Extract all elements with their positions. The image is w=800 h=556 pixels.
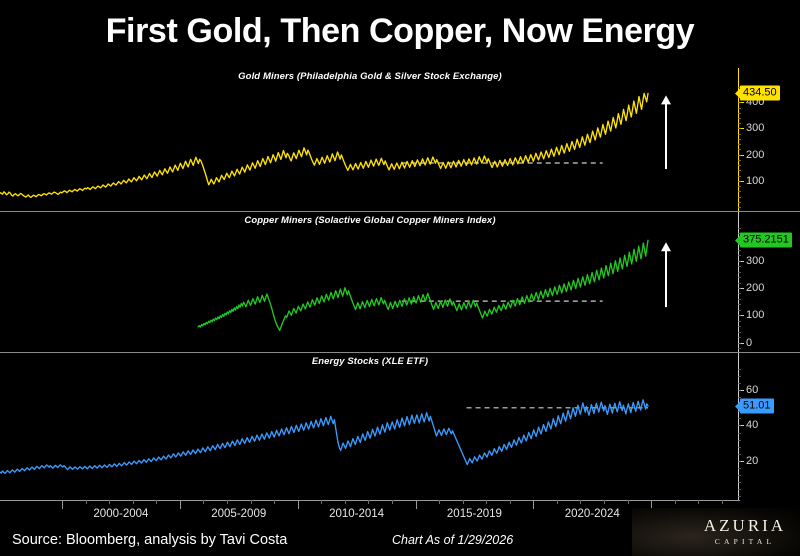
x-axis-minor-tick bbox=[274, 500, 275, 504]
x-axis-minor-tick bbox=[345, 500, 346, 504]
axis-minor-tick bbox=[738, 176, 741, 177]
axis-minor-tick bbox=[738, 197, 741, 198]
axis-tick-label: 100 bbox=[746, 309, 764, 321]
plot-energy-stocks bbox=[0, 353, 740, 500]
price-axis-gold-miners: 100200300400 434.50 bbox=[738, 68, 800, 211]
last-price-tag: 51.01 bbox=[740, 399, 774, 414]
azuria-capital-logo: AZURIA CAPITAL bbox=[632, 508, 800, 556]
plot-gold-miners bbox=[0, 68, 740, 211]
axis-minor-tick bbox=[738, 461, 741, 462]
x-axis-minor-tick bbox=[557, 500, 558, 504]
series-line bbox=[0, 212, 740, 352]
x-axis-line bbox=[0, 500, 740, 501]
axis-minor-tick bbox=[738, 255, 741, 256]
page-title: First Gold, Then Copper, Now Energy bbox=[0, 12, 800, 51]
axis-minor-tick bbox=[738, 102, 741, 103]
axis-minor-tick bbox=[738, 283, 741, 284]
axis-minor-tick bbox=[738, 418, 741, 419]
axis-minor-tick bbox=[738, 228, 741, 229]
axis-minor-tick bbox=[738, 310, 741, 311]
pyramid-icon bbox=[640, 514, 692, 552]
price-tag-caret bbox=[735, 88, 740, 98]
axis-minor-tick bbox=[738, 149, 741, 150]
axis-spine bbox=[738, 353, 739, 500]
axis-minor-tick bbox=[738, 369, 741, 370]
axis-minor-tick bbox=[738, 207, 741, 208]
axis-minor-tick bbox=[738, 468, 741, 469]
axis-minor-tick bbox=[738, 304, 741, 305]
axis-minor-tick bbox=[738, 134, 741, 135]
chart-panels: Gold Miners (Philadelphia Gold & Silver … bbox=[0, 68, 800, 500]
panel-title-energy-stocks: Energy Stocks (XLE ETF) bbox=[0, 356, 740, 367]
axis-minor-tick bbox=[738, 433, 741, 434]
last-price-tag: 434.50 bbox=[740, 86, 780, 101]
x-axis-minor-tick bbox=[463, 500, 464, 504]
axis-minor-tick bbox=[738, 181, 741, 182]
x-axis-tick bbox=[180, 500, 181, 509]
panel-gold-miners: Gold Miners (Philadelphia Gold & Silver … bbox=[0, 68, 800, 211]
axis-tick-label: 0 bbox=[746, 337, 752, 349]
price-axis-copper-miners: 0100200300 375.2151 bbox=[738, 212, 800, 352]
axis-minor-tick bbox=[738, 123, 741, 124]
axis-minor-tick bbox=[738, 321, 741, 322]
axis-tick-label: 300 bbox=[746, 255, 764, 267]
axis-tick-label: 100 bbox=[746, 175, 764, 187]
axis-tick-label: 20 bbox=[746, 455, 758, 467]
axis-minor-tick bbox=[738, 144, 741, 145]
last-price-tag: 375.2151 bbox=[740, 233, 792, 248]
axis-minor-tick bbox=[738, 343, 741, 344]
panel-copper-miners: Copper Miners (Solactive Global Copper M… bbox=[0, 212, 800, 352]
axis-minor-tick bbox=[738, 118, 741, 119]
axis-minor-tick bbox=[738, 113, 741, 114]
panel-title-gold-miners: Gold Miners (Philadelphia Gold & Silver … bbox=[0, 71, 740, 82]
axis-minor-tick bbox=[738, 288, 741, 289]
axis-minor-tick bbox=[738, 315, 741, 316]
logo-name: AZURIA bbox=[694, 516, 796, 535]
axis-minor-tick bbox=[738, 277, 741, 278]
x-axis-minor-tick bbox=[321, 500, 322, 504]
x-axis-minor-tick bbox=[203, 500, 204, 504]
axis-minor-tick bbox=[738, 383, 741, 384]
axis-minor-tick bbox=[738, 489, 741, 490]
axis-minor-tick bbox=[738, 454, 741, 455]
axis-minor-tick bbox=[738, 425, 741, 426]
x-axis-minor-tick bbox=[675, 500, 676, 504]
axis-tick-label: 200 bbox=[746, 149, 764, 161]
axis-minor-tick bbox=[738, 496, 741, 497]
axis-minor-tick bbox=[738, 348, 741, 349]
logo-wordmark: AZURIA CAPITAL bbox=[694, 516, 796, 546]
axis-minor-tick bbox=[738, 202, 741, 203]
axis-minor-tick bbox=[738, 170, 741, 171]
axis-minor-tick bbox=[738, 186, 741, 187]
series-line bbox=[0, 68, 740, 211]
source-text: Source: Bloomberg, analysis by Tavi Cost… bbox=[12, 532, 287, 548]
x-axis-label: 2000-2004 bbox=[93, 508, 148, 520]
series-line bbox=[0, 353, 740, 500]
x-axis-tick bbox=[298, 500, 299, 509]
x-axis-minor-tick bbox=[698, 500, 699, 504]
x-axis-label: 2005-2009 bbox=[211, 508, 266, 520]
x-axis-minor-tick bbox=[109, 500, 110, 504]
axis-minor-tick bbox=[738, 293, 741, 294]
x-axis-label: 2010-2014 bbox=[329, 508, 384, 520]
x-axis-tick bbox=[416, 500, 417, 509]
chart-screenshot: First Gold, Then Copper, Now Energy Gold… bbox=[0, 0, 800, 556]
axis-minor-tick bbox=[738, 376, 741, 377]
x-axis-minor-tick bbox=[156, 500, 157, 504]
x-axis-label: 2015-2019 bbox=[447, 508, 502, 520]
breakout-arrow-icon bbox=[661, 95, 671, 169]
x-axis-minor-tick bbox=[628, 500, 629, 504]
axis-minor-tick bbox=[738, 326, 741, 327]
axis-minor-tick bbox=[738, 266, 741, 267]
price-tag-caret bbox=[735, 235, 740, 245]
axis-tick-label: 200 bbox=[746, 282, 764, 294]
x-axis-tick bbox=[533, 500, 534, 509]
axis-tick-label: 60 bbox=[746, 384, 758, 396]
x-axis-minor-tick bbox=[580, 500, 581, 504]
axis-minor-tick bbox=[738, 447, 741, 448]
panel-energy-stocks: Energy Stocks (XLE ETF) 204060 51.01 bbox=[0, 353, 800, 500]
x-axis-minor-tick bbox=[510, 500, 511, 504]
axis-tick-label: 300 bbox=[746, 122, 764, 134]
x-axis-minor-tick bbox=[722, 500, 723, 504]
breakout-arrow-icon bbox=[661, 242, 671, 307]
x-axis-tick bbox=[62, 500, 63, 509]
price-tag-caret bbox=[735, 401, 740, 411]
x-axis-minor-tick bbox=[604, 500, 605, 504]
panel-title-copper-miners: Copper Miners (Solactive Global Copper M… bbox=[0, 215, 740, 226]
axis-minor-tick bbox=[738, 337, 741, 338]
axis-minor-tick bbox=[738, 108, 741, 109]
x-axis-minor-tick bbox=[86, 500, 87, 504]
axis-minor-tick bbox=[738, 191, 741, 192]
x-axis-minor-tick bbox=[251, 500, 252, 504]
axis-minor-tick bbox=[738, 160, 741, 161]
axis-minor-tick bbox=[738, 440, 741, 441]
logo-subtitle: CAPITAL bbox=[694, 537, 796, 546]
axis-minor-tick bbox=[738, 272, 741, 273]
x-axis-minor-tick bbox=[486, 500, 487, 504]
axis-minor-tick bbox=[738, 250, 741, 251]
axis-minor-tick bbox=[738, 299, 741, 300]
axis-minor-tick bbox=[738, 155, 741, 156]
axis-minor-tick bbox=[738, 139, 741, 140]
axis-minor-tick bbox=[738, 475, 741, 476]
x-axis-minor-tick bbox=[439, 500, 440, 504]
x-axis-minor-tick bbox=[227, 500, 228, 504]
axis-minor-tick bbox=[738, 332, 741, 333]
as-of-text: Chart As of 1/29/2026 bbox=[392, 533, 513, 547]
axis-minor-tick bbox=[738, 165, 741, 166]
axis-minor-tick bbox=[738, 482, 741, 483]
axis-minor-tick bbox=[738, 390, 741, 391]
x-axis-label: 2020-2024 bbox=[565, 508, 620, 520]
price-axis-energy-stocks: 204060 51.01 bbox=[738, 353, 800, 500]
axis-tick-label: 40 bbox=[746, 419, 758, 431]
plot-copper-miners bbox=[0, 212, 740, 352]
x-axis-minor-tick bbox=[368, 500, 369, 504]
x-axis-minor-tick bbox=[133, 500, 134, 504]
axis-minor-tick bbox=[738, 261, 741, 262]
x-axis-minor-tick bbox=[392, 500, 393, 504]
axis-minor-tick bbox=[738, 128, 741, 129]
